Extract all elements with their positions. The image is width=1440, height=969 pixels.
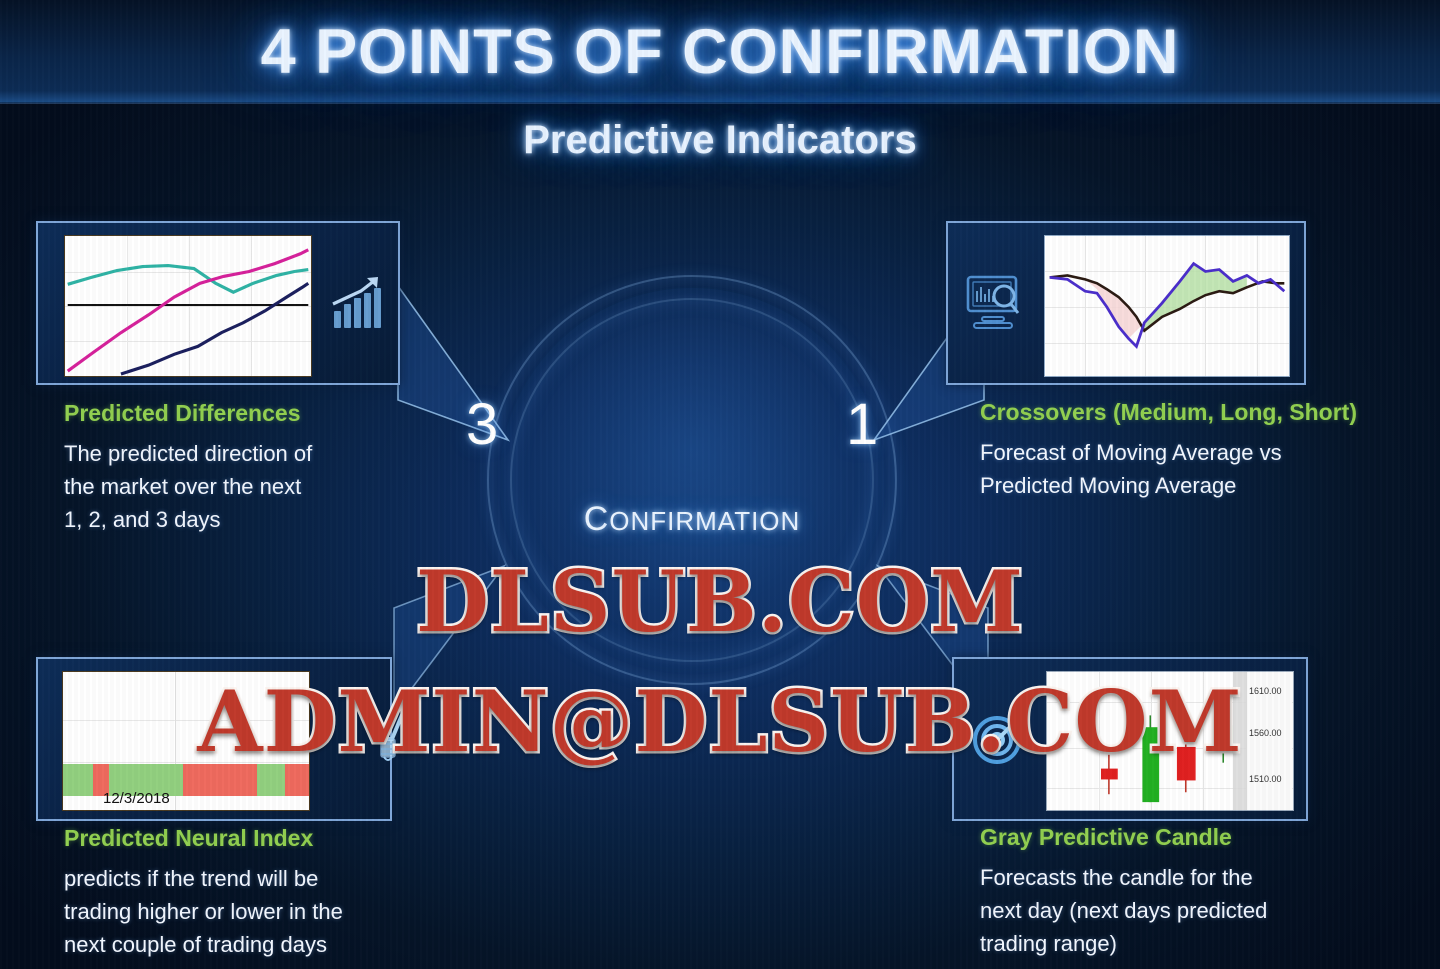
center-label-rest: ONFIRMATION [609,506,800,536]
card-body-predicted-differences: The predicted direction of the market ov… [64,437,312,536]
line-chart-thumbnail [64,235,312,377]
watermark-site: DLSUB.COM [0,552,1440,651]
step-number-3: 3 [466,396,498,454]
moving-average-crossover-thumbnail [1044,235,1290,377]
slide-canvas: 4 POINTS OF CONFIRMATION Predictive Indi… [0,0,1440,969]
center-label-cap: C [584,500,610,538]
price-label-bottom: 1510.00 [1249,774,1282,784]
card-body-crossovers: Forecast of Moving Average vs Predicted … [980,436,1282,502]
card-title-gray-predictive-candle: Gray Predictive Candle [980,824,1232,851]
page-title: 4 POINTS OF CONFIRMATION [261,16,1180,88]
step-number-1: 1 [846,396,878,454]
thumbnail-date-label: 12/3/2018 [103,790,170,807]
card-title-predicted-neural-index: Predicted Neural Index [64,825,313,852]
card-predicted-differences[interactable] [36,221,400,385]
header-band: 4 POINTS OF CONFIRMATION [0,0,1440,104]
card-body-predicted-neural-index: predicts if the trend will be trading hi… [64,862,343,961]
card-title-predicted-differences: Predicted Differences [64,400,300,427]
page-subtitle: Predictive Indicators [0,118,1440,163]
bar-chart-growth-icon [328,271,390,333]
watermark-email: ADMIN@DLSUB.COM [0,672,1440,771]
card-title-crossovers: Crossovers (Medium, Long, Short) [980,399,1357,426]
card-crossovers[interactable] [946,221,1306,385]
card-body-gray-predictive-candle: Forecasts the candle for the next day (n… [980,861,1267,960]
center-label: CONFIRMATION [487,500,897,539]
monitor-analytics-icon [964,273,1026,331]
